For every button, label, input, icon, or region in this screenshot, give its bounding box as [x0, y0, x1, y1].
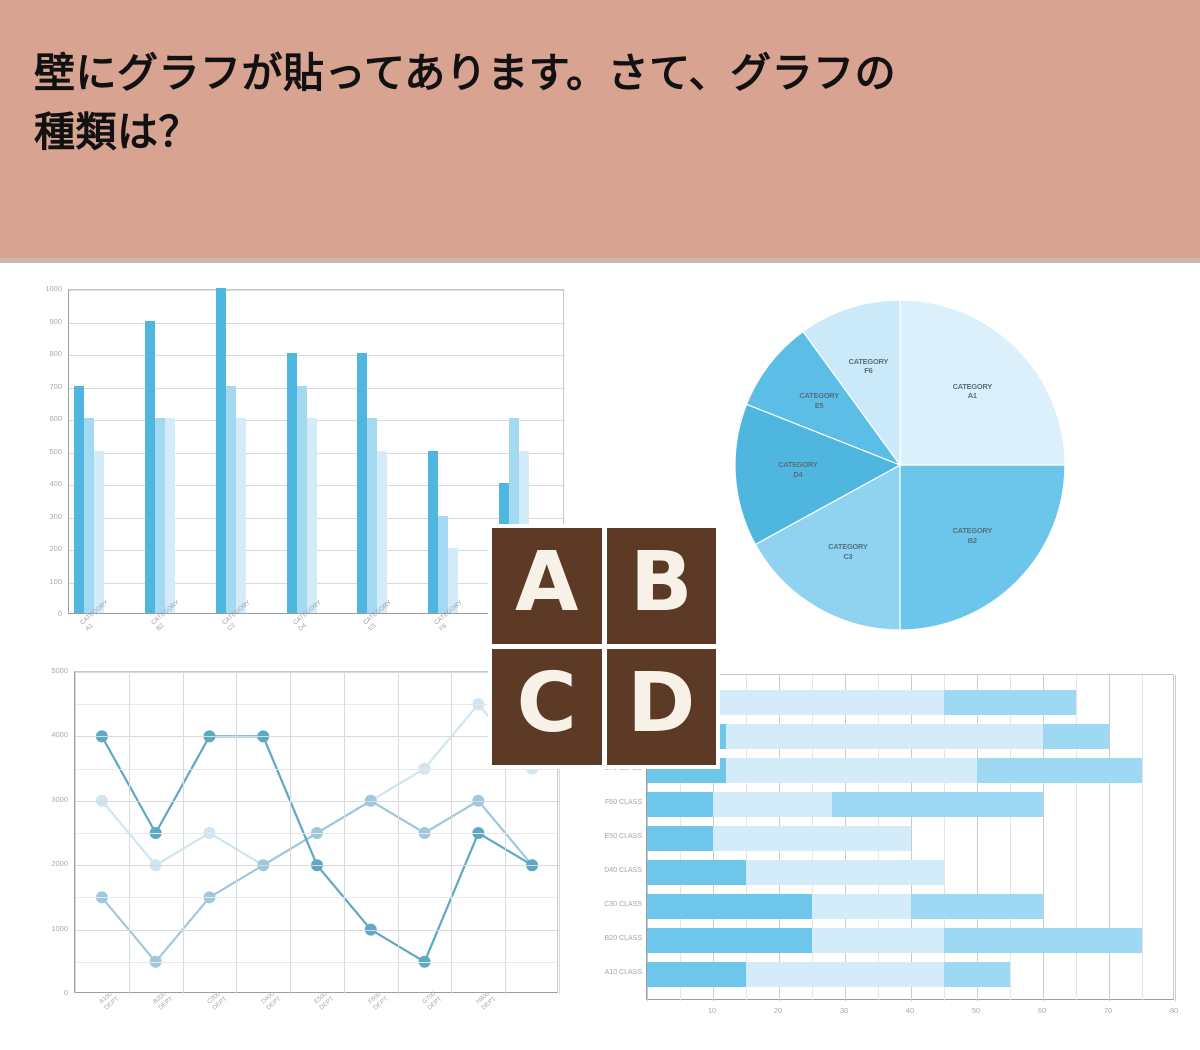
bar-chart-bar [367, 418, 377, 613]
answer-option-a[interactable]: A [492, 528, 602, 644]
hbar-chart-x-tick: 30 [826, 1006, 862, 1015]
bar-chart-bar [236, 418, 246, 613]
line-chart-gridline [75, 672, 559, 673]
hbar-chart-x-tick: 20 [760, 1006, 796, 1015]
pie-chart: CATEGORY A1CATEGORY B2CATEGORY C3CATEGOR… [700, 270, 1100, 660]
answer-option-b[interactable]: B [607, 528, 717, 644]
question-text: 壁にグラフが貼ってあります。さて、グラフの 種類は？ [34, 44, 1154, 163]
hbar-chart-segment [911, 894, 1043, 919]
bar-chart-bar [155, 418, 165, 613]
hbar-chart-segment [647, 928, 812, 953]
bar-chart-y-tick: 900 [22, 317, 62, 326]
line-chart-vgridline [451, 672, 452, 994]
line-chart-minor-gridline [75, 962, 559, 963]
hbar-chart-segment [647, 826, 713, 851]
bar-chart-gridline [69, 485, 565, 486]
hbar-chart-x-tick: 40 [892, 1006, 928, 1015]
hbar-chart-segment [944, 962, 1010, 987]
pie-slice-label: CATEGORY C3 [803, 542, 893, 561]
hbar-chart-segment [832, 792, 1043, 817]
answer-option-d[interactable]: D [607, 649, 717, 765]
bar-chart-bar [357, 353, 367, 613]
line-chart-y-tick: 0 [22, 988, 68, 997]
hbar-chart-x-tick: 50 [958, 1006, 994, 1015]
line-chart-minor-gridline [75, 833, 559, 834]
hbar-chart-x-tick: 70 [1090, 1006, 1126, 1015]
bar-chart-bar [165, 418, 175, 613]
bar-chart-y-tick: 100 [22, 577, 62, 586]
bar-chart-y-tick: 1000 [22, 284, 62, 293]
hbar-chart-segment [713, 690, 944, 715]
answer-options-grid: A B C D [488, 524, 720, 769]
hbar-chart-segment [944, 690, 1076, 715]
line-chart-series-line [102, 801, 532, 962]
answer-option-c[interactable]: C [492, 649, 602, 765]
line-chart-plot-area [74, 671, 558, 993]
bar-chart-y-tick: 300 [22, 512, 62, 521]
bar-chart-bar [145, 321, 155, 614]
bar-chart-bar [438, 516, 448, 614]
hbar-chart-y-tick: F60 CLASS [598, 799, 642, 806]
bar-chart-y-tick: 500 [22, 447, 62, 456]
line-chart-series-line [102, 736, 532, 961]
line-chart-gridline [75, 865, 559, 866]
hbar-chart-y-tick: D40 CLASS [598, 867, 642, 874]
pie-slice [900, 465, 1065, 630]
bar-chart-bar [84, 418, 94, 613]
hbar-chart-segment [726, 758, 977, 783]
bar-chart-bar [94, 451, 104, 614]
bar-chart-bar [297, 386, 307, 614]
hbar-chart-segment [977, 758, 1142, 783]
pie-slice-label: CATEGORY A1 [927, 382, 1017, 401]
hbar-chart-segment [647, 962, 746, 987]
line-chart-gridline [75, 736, 559, 737]
line-chart-y-tick: 3000 [22, 795, 68, 804]
question-line-1: 壁にグラフが貼ってあります。さて、グラフの [34, 44, 1154, 103]
bar-chart-gridline [69, 323, 565, 324]
hbar-chart-segment [713, 826, 911, 851]
hbar-chart-segment [1043, 724, 1109, 749]
bar-chart-y-tick: 600 [22, 414, 62, 423]
pie-slice-label: CATEGORY F6 [823, 357, 913, 376]
hbar-chart-y-tick: B20 CLASS [598, 935, 642, 942]
bar-chart-gridline [69, 388, 565, 389]
hbar-chart-y-tick: C30 CLASS [598, 901, 642, 908]
hbar-chart-segment [746, 962, 944, 987]
hbar-chart-segment [713, 792, 832, 817]
hbar-chart-segment [647, 860, 746, 885]
hbar-chart-segment [726, 724, 1043, 749]
line-chart-gridline [75, 930, 559, 931]
line-chart-y-tick: 2000 [22, 859, 68, 868]
bar-chart-gridline [69, 518, 565, 519]
hbar-chart-segment [647, 894, 812, 919]
bar-chart-y-tick: 700 [22, 382, 62, 391]
hbar-chart-segment [944, 928, 1142, 953]
bar-chart-bar [307, 418, 317, 613]
bar-chart-gridline [69, 420, 565, 421]
bar-chart-bar [74, 386, 84, 614]
line-chart-series-line [102, 704, 532, 865]
hbar-chart-segment [647, 792, 713, 817]
bar-chart-gridline [69, 355, 565, 356]
line-chart-vgridline [183, 672, 184, 994]
line-chart-y-tick: 4000 [22, 730, 68, 739]
bar-chart-gridline [69, 290, 565, 291]
question-banner: 壁にグラフが貼ってあります。さて、グラフの 種類は？ [0, 0, 1200, 258]
hbar-chart-x-tick: 10 [694, 1006, 730, 1015]
line-chart-y-tick: 5000 [22, 666, 68, 675]
banner-divider [0, 258, 1200, 263]
bar-chart-y-tick: 0 [22, 609, 62, 618]
hbar-chart-vgridline [1142, 675, 1143, 1001]
bar-chart-gridline [69, 453, 565, 454]
line-chart-vgridline [75, 672, 76, 994]
bar-chart-y-tick: 200 [22, 544, 62, 553]
bar-chart-y-tick: 400 [22, 479, 62, 488]
bar-chart-bar [377, 451, 387, 614]
pie-slice-label: CATEGORY B2 [927, 526, 1017, 545]
hbar-chart-plot-area [646, 674, 1174, 1000]
hbar-chart-segment [812, 928, 944, 953]
bar-chart-bar [287, 353, 297, 613]
line-chart-y-tick: 1000 [22, 924, 68, 933]
hbar-chart-x-tick: 60 [1024, 1006, 1060, 1015]
pie-slice-label: CATEGORY D4 [753, 460, 843, 479]
bar-chart-bar [428, 451, 438, 614]
line-chart-vgridline [290, 672, 291, 994]
hbar-chart-vgridline [1175, 675, 1176, 1001]
line-chart-minor-gridline [75, 769, 559, 770]
hbar-chart-y-tick: E50 CLASS [598, 833, 642, 840]
pie-slice-label: CATEGORY E5 [774, 391, 864, 410]
line-chart-minor-gridline [75, 897, 559, 898]
line-chart-vgridline [344, 672, 345, 994]
bar-chart-bar [216, 288, 226, 613]
hbar-chart-x-tick: 80 [1156, 1006, 1192, 1015]
bar-chart-y-tick: 800 [22, 349, 62, 358]
line-chart-vgridline [129, 672, 130, 994]
line-chart-gridline [75, 801, 559, 802]
line-chart-vgridline [398, 672, 399, 994]
bar-chart-bar [226, 386, 236, 614]
hbar-chart-segment [812, 894, 911, 919]
line-chart-vgridline [236, 672, 237, 994]
line-chart-minor-gridline [75, 704, 559, 705]
hbar-chart-segment [746, 860, 944, 885]
question-line-2: 種類は？ [34, 103, 1154, 162]
hbar-chart-y-tick: A10 CLASS [598, 969, 642, 976]
